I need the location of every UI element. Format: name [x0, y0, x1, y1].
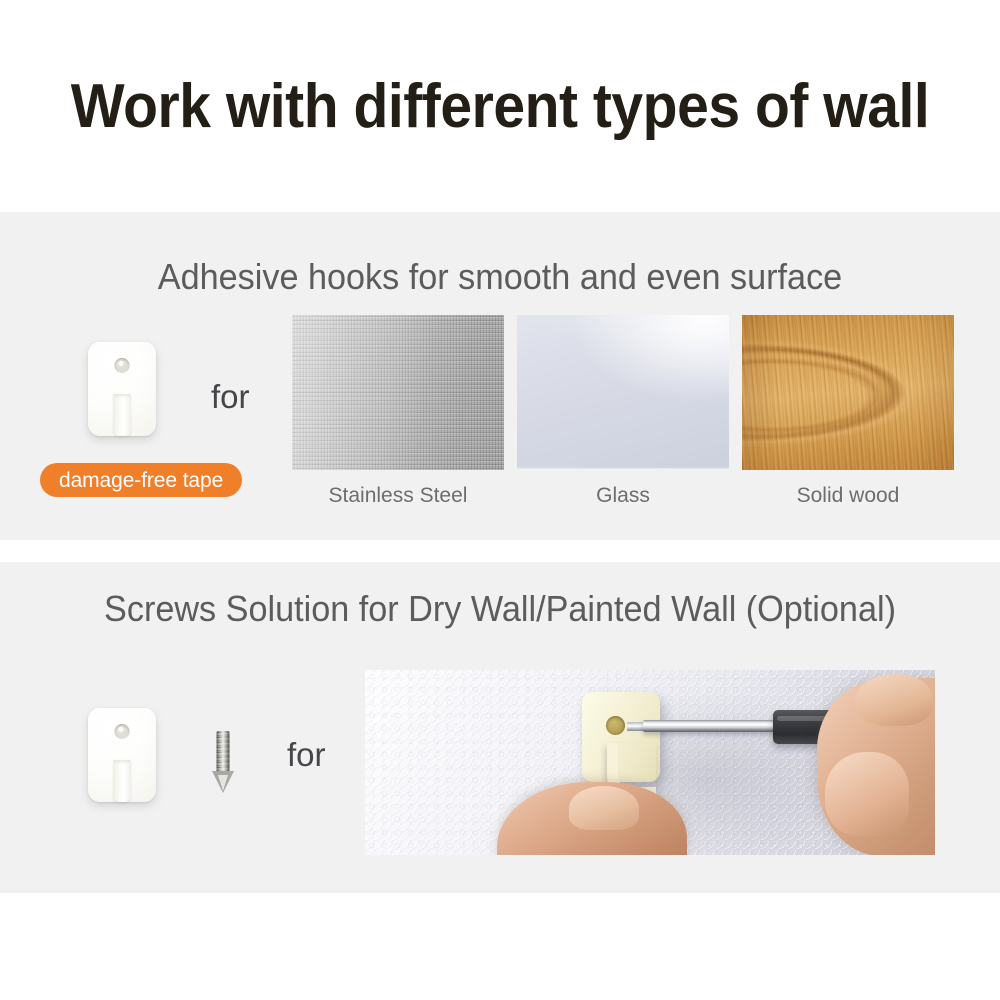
glass-swatch — [517, 315, 729, 470]
hook-screw-hole-icon — [115, 724, 130, 739]
swatch-caption-solid-wood: Solid wood — [742, 484, 954, 508]
glass-texture — [517, 315, 729, 470]
hook-screw-hole-icon — [115, 358, 130, 373]
section-screws-heading: Screws Solution for Dry Wall/Painted Wal… — [25, 587, 975, 631]
connector-word-adhesive: for — [211, 380, 250, 414]
steel-texture — [292, 315, 504, 470]
adhesive-hook-icon — [88, 342, 156, 436]
screw-head-highlight-icon — [218, 775, 228, 791]
swatch-caption-stainless-steel: Stainless Steel — [292, 484, 504, 508]
hook-tab-icon — [114, 760, 131, 802]
right-hand — [817, 678, 935, 855]
page-title: Work with different types of wall — [40, 68, 960, 146]
screw-hook-icon — [88, 708, 156, 802]
mounted-hook-screw-icon — [606, 716, 625, 735]
hook-tab-icon — [114, 394, 131, 436]
hook-screwed-into-wall-photo — [365, 670, 935, 855]
status-badge-damage-free-tape: damage-free tape — [40, 463, 242, 497]
wood-texture — [742, 315, 954, 470]
screw-icon — [212, 731, 234, 793]
wood-swatch — [742, 315, 954, 470]
fingernail — [589, 792, 623, 817]
mounted-hook-in-photo — [582, 692, 660, 782]
screw-shaft-icon — [217, 731, 230, 771]
swatch-caption-glass: Glass — [517, 484, 729, 508]
thumb — [855, 674, 933, 726]
section-adhesive-heading: Adhesive hooks for smooth and even surfa… — [25, 255, 975, 299]
connector-word-screws: for — [287, 738, 326, 772]
brushed-steel-swatch — [292, 315, 504, 470]
